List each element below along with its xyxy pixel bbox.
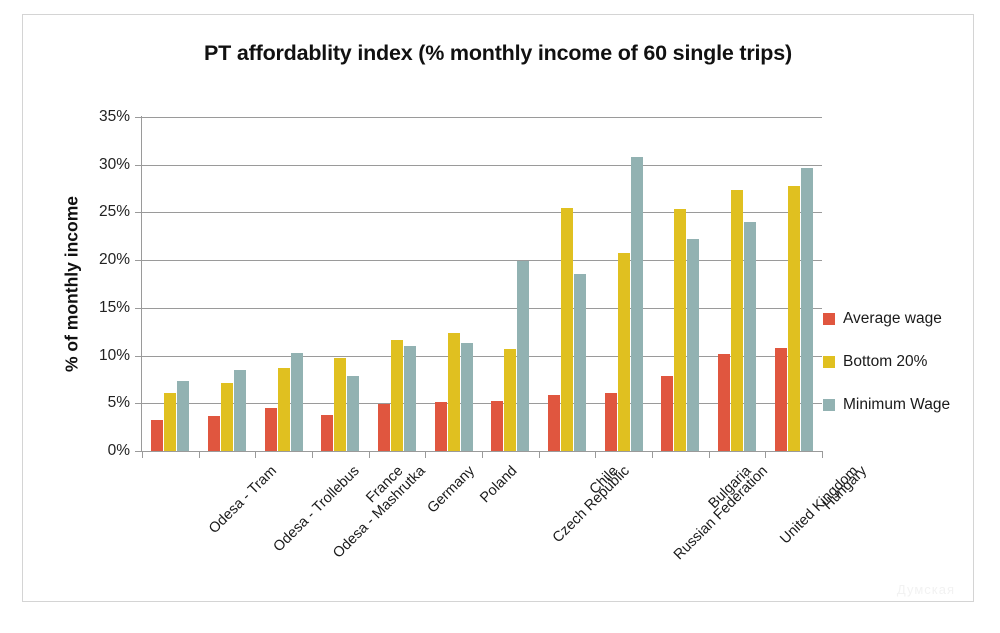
x-tick-mark — [312, 451, 313, 458]
x-tick-mark — [425, 451, 426, 458]
bar — [801, 168, 813, 451]
bar-group — [425, 117, 482, 451]
bar — [561, 208, 573, 451]
bar — [674, 209, 686, 451]
bar — [631, 157, 643, 451]
bar-group — [652, 117, 709, 451]
y-tick-label: 5% — [70, 394, 130, 412]
bar — [347, 376, 359, 451]
y-tick-mark — [135, 308, 141, 309]
y-tick-mark — [135, 117, 141, 118]
legend-swatch-icon — [823, 313, 835, 325]
bar — [265, 408, 277, 451]
x-tick-mark — [199, 451, 200, 458]
y-tick-label: 20% — [70, 251, 130, 269]
bar — [574, 274, 586, 451]
x-tick-mark — [369, 451, 370, 458]
x-tick-mark — [595, 451, 596, 458]
x-tick-mark — [765, 451, 766, 458]
x-tick-mark — [652, 451, 653, 458]
x-tick-mark — [142, 451, 143, 458]
y-tick-mark — [135, 356, 141, 357]
x-tick-label: Poland — [477, 463, 520, 506]
y-tick-mark — [135, 403, 141, 404]
bar — [391, 340, 403, 451]
chart-title: PT affordablity index (% monthly income … — [23, 41, 973, 66]
bar — [404, 346, 416, 451]
watermark: Думская — [897, 582, 955, 597]
legend-item[interactable]: Minimum Wage — [823, 383, 993, 426]
y-tick-mark — [135, 451, 141, 452]
bar — [504, 349, 516, 451]
bar — [775, 348, 787, 451]
y-tick-mark — [135, 212, 141, 213]
bar — [461, 343, 473, 451]
bar-group — [482, 117, 539, 451]
bar — [234, 370, 246, 451]
bar-group — [255, 117, 312, 451]
x-tick-mark — [539, 451, 540, 458]
bar — [788, 186, 800, 451]
x-tick-mark — [709, 451, 710, 458]
bar-group — [142, 117, 199, 451]
x-tick-mark — [822, 451, 823, 458]
legend-label: Average wage — [843, 310, 942, 328]
x-axis-labels: Odesa - TramOdesa - TrollebusOdesa - Mas… — [142, 459, 822, 579]
bar — [491, 401, 503, 451]
bar — [731, 190, 743, 451]
x-tick-mark — [255, 451, 256, 458]
x-axis-ticks — [142, 451, 822, 458]
bar — [618, 253, 630, 451]
bar — [151, 420, 163, 451]
bar — [291, 353, 303, 451]
bar-group — [709, 117, 766, 451]
y-tick-label: 15% — [70, 299, 130, 317]
x-tick-label: Odesa - Tram — [206, 463, 280, 537]
bar-group — [312, 117, 369, 451]
bar — [605, 393, 617, 451]
legend-item[interactable]: Bottom 20% — [823, 340, 993, 383]
legend-label: Bottom 20% — [843, 353, 927, 371]
bar — [278, 368, 290, 451]
y-tick-label: 10% — [70, 347, 130, 365]
bar — [661, 376, 673, 451]
legend-item[interactable]: Average wage — [823, 297, 993, 340]
y-tick-label: 35% — [70, 108, 130, 126]
bar-group — [199, 117, 256, 451]
bar-groups — [142, 117, 822, 451]
x-tick-label: Czech Republic — [550, 463, 633, 546]
chart-screenshot: PT affordablity index (% monthly income … — [0, 0, 1000, 633]
bar — [744, 222, 756, 451]
bar — [164, 393, 176, 451]
x-tick-label: Germany — [424, 463, 477, 516]
bar — [448, 333, 460, 451]
bar — [321, 415, 333, 451]
y-tick-label: 0% — [70, 442, 130, 460]
bar — [435, 402, 447, 451]
bar — [177, 381, 189, 451]
bar-group — [369, 117, 426, 451]
legend: Average wageBottom 20%Minimum Wage — [823, 297, 993, 426]
bar-group — [595, 117, 652, 451]
bar — [334, 358, 346, 451]
y-tick-label: 25% — [70, 203, 130, 221]
x-tick-label: Russian Federation — [670, 463, 770, 563]
bar — [208, 416, 220, 451]
chart-frame: PT affordablity index (% monthly income … — [22, 14, 974, 602]
bar-group — [539, 117, 596, 451]
legend-swatch-icon — [823, 399, 835, 411]
x-tick-mark — [482, 451, 483, 458]
bar — [548, 395, 560, 451]
bar — [517, 261, 529, 451]
legend-label: Minimum Wage — [843, 396, 950, 414]
y-tick-label: 30% — [70, 156, 130, 174]
bar-group — [765, 117, 822, 451]
bar — [378, 404, 390, 451]
bar — [221, 383, 233, 451]
bar — [718, 354, 730, 451]
bar — [687, 239, 699, 451]
legend-swatch-icon — [823, 356, 835, 368]
y-tick-mark — [135, 165, 141, 166]
y-tick-mark — [135, 260, 141, 261]
